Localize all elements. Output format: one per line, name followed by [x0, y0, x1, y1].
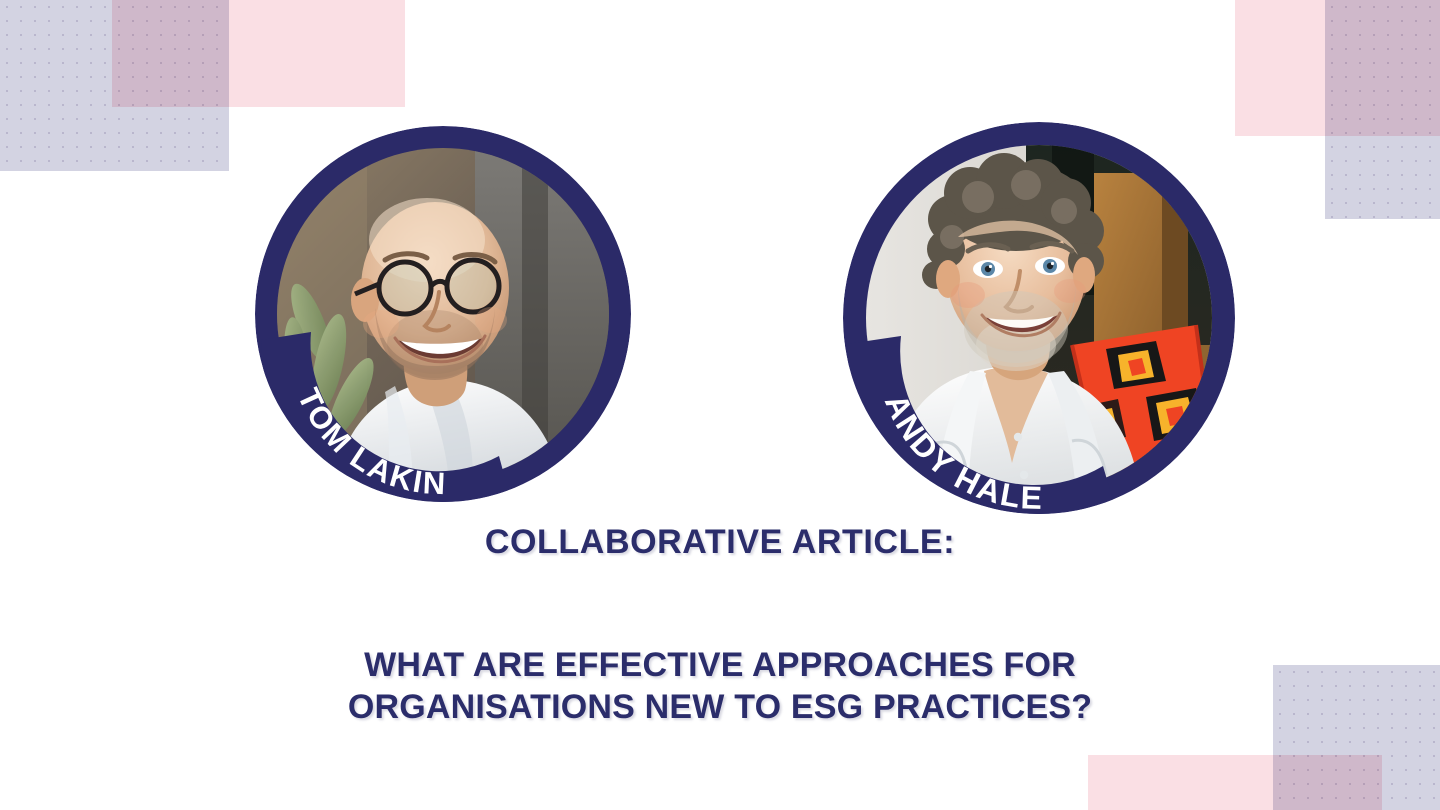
slide-canvas: TOM LAKIN	[0, 0, 1440, 810]
headline-line-2: ORGANISATIONS NEW TO ESG PRACTICES?	[0, 687, 1440, 729]
avatar-tom-lakin: TOM LAKIN	[255, 126, 631, 502]
headline: WHAT ARE EFFECTIVE APPROACHES FOR ORGANI…	[0, 645, 1440, 729]
top-right-lavender-block	[1325, 0, 1440, 219]
kicker-label: COLLABORATIVE ARTICLE:	[0, 523, 1440, 562]
avatar-andy-hale: ANDY HALE	[843, 122, 1235, 514]
avatar-name-arc-andy-hale: ANDY HALE	[843, 122, 1235, 514]
top-left-lavender-block	[0, 0, 229, 171]
top-left-pink-block	[112, 0, 405, 107]
top-right-pink-block	[1235, 0, 1440, 136]
bottom-right-pink-block	[1088, 755, 1382, 810]
avatar-name-arc-tom-lakin: TOM LAKIN	[255, 126, 631, 502]
headline-line-1: WHAT ARE EFFECTIVE APPROACHES FOR	[0, 645, 1440, 687]
